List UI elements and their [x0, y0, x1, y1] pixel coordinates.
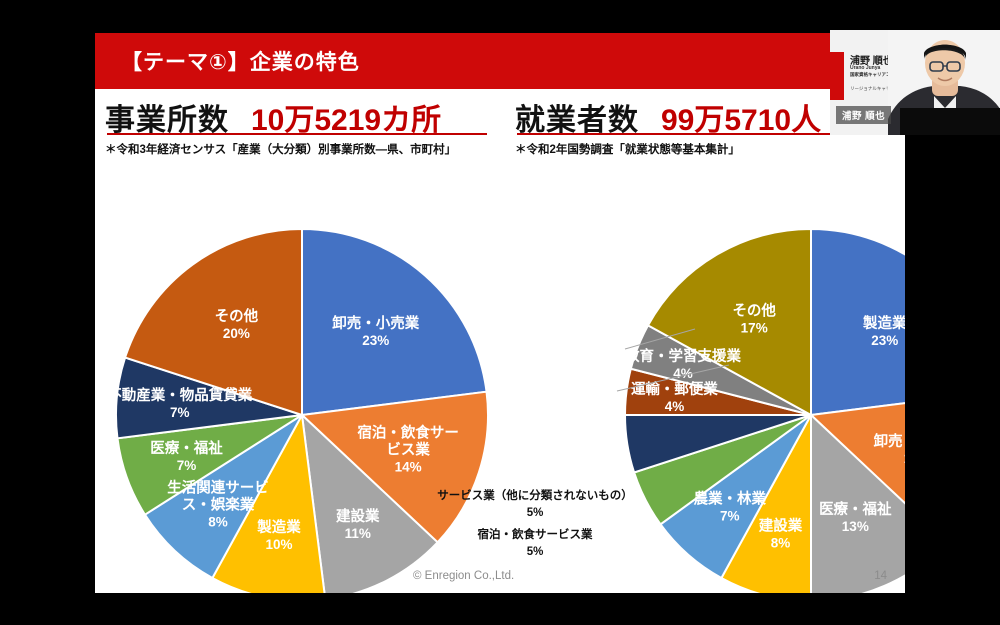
left-heading-block: 事業所数10万5219カ所 ＊令和3年経済センサス「産業（大分類）別事業所数―県…	[105, 95, 505, 157]
presentation-slide: 【テーマ①】企業の特色 事業所数10万5219カ所 ＊令和3年経済センサス「産業…	[95, 33, 905, 593]
footer-copyright: © Enregion Co.,Ltd.	[413, 570, 514, 582]
callout-label-percent: 5%	[425, 505, 645, 522]
svg-text:4%: 4%	[673, 366, 693, 381]
svg-text:建設業: 建設業	[336, 507, 380, 525]
svg-text:ビス業: ビス業	[386, 440, 430, 458]
svg-text:卸売・小売業: 卸売・小売業	[332, 314, 419, 332]
footer-page-number: 14	[874, 570, 887, 582]
callout-label-percent: 5%	[425, 544, 645, 561]
callout-label-text: 宿泊・飲食サービス業	[425, 527, 645, 544]
svg-text:11%: 11%	[345, 526, 371, 541]
svg-text:宿泊・飲食サー: 宿泊・飲食サー	[357, 423, 459, 441]
svg-text:医療・福祉: 医療・福祉	[819, 500, 892, 518]
svg-text:不動産業・物品賃貸業: 不動産業・物品賃貸業	[107, 386, 252, 404]
speaker-name-en: Urano Junya	[850, 65, 880, 71]
callout-label: サービス業（他に分類されないもの）5%	[425, 488, 645, 521]
svg-text:医療・福祉: 医療・福祉	[150, 439, 223, 457]
svg-text:教育・学習支援業: 教育・学習支援業	[624, 347, 741, 365]
svg-text:その他: その他	[732, 301, 776, 319]
svg-text:14%: 14%	[395, 459, 422, 474]
svg-text:23%: 23%	[871, 333, 898, 348]
slide-banner: 【テーマ①】企業の特色	[95, 33, 905, 89]
svg-text:製造業: 製造業	[256, 518, 301, 536]
webcam-dark-band	[900, 108, 1000, 135]
callout-label-text: サービス業（他に分類されないもの）	[425, 488, 645, 505]
svg-text:14%: 14%	[904, 451, 905, 466]
name-card-accent-bar	[830, 52, 844, 100]
callout-label: 宿泊・飲食サービス業5%	[425, 527, 645, 560]
svg-text:運輸・郵便業: 運輸・郵便業	[631, 380, 718, 398]
svg-text:生活関連サービ: 生活関連サービ	[167, 478, 269, 496]
speaker-name-badge: 浦野 順也	[836, 106, 891, 124]
svg-text:17%: 17%	[741, 320, 768, 335]
svg-text:卸売・小売業: 卸売・小売業	[874, 432, 905, 450]
svg-text:8%: 8%	[208, 514, 228, 529]
slide-title: 【テーマ①】企業の特色	[121, 46, 360, 76]
svg-text:13%: 13%	[842, 519, 869, 534]
svg-text:製造業: 製造業	[862, 314, 905, 332]
svg-text:20%: 20%	[223, 326, 250, 341]
svg-text:7%: 7%	[720, 509, 740, 524]
left-headline: 事業所数10万5219カ所	[105, 95, 505, 133]
svg-text:ス・娯楽業: ス・娯楽業	[182, 495, 255, 513]
svg-text:23%: 23%	[362, 333, 389, 348]
svg-text:8%: 8%	[771, 535, 791, 550]
svg-text:その他: その他	[215, 307, 259, 325]
svg-text:10%: 10%	[265, 537, 292, 552]
svg-text:農業・林業: 農業・林業	[694, 490, 767, 508]
svg-text:4%: 4%	[665, 399, 685, 414]
svg-text:7%: 7%	[170, 405, 190, 420]
callout-labels: サービス業（他に分類されないもの）5%宿泊・飲食サービス業5%	[425, 488, 645, 567]
left-heading-underline	[107, 133, 487, 135]
svg-text:建設業: 建設業	[759, 516, 803, 534]
svg-text:7%: 7%	[177, 458, 197, 473]
